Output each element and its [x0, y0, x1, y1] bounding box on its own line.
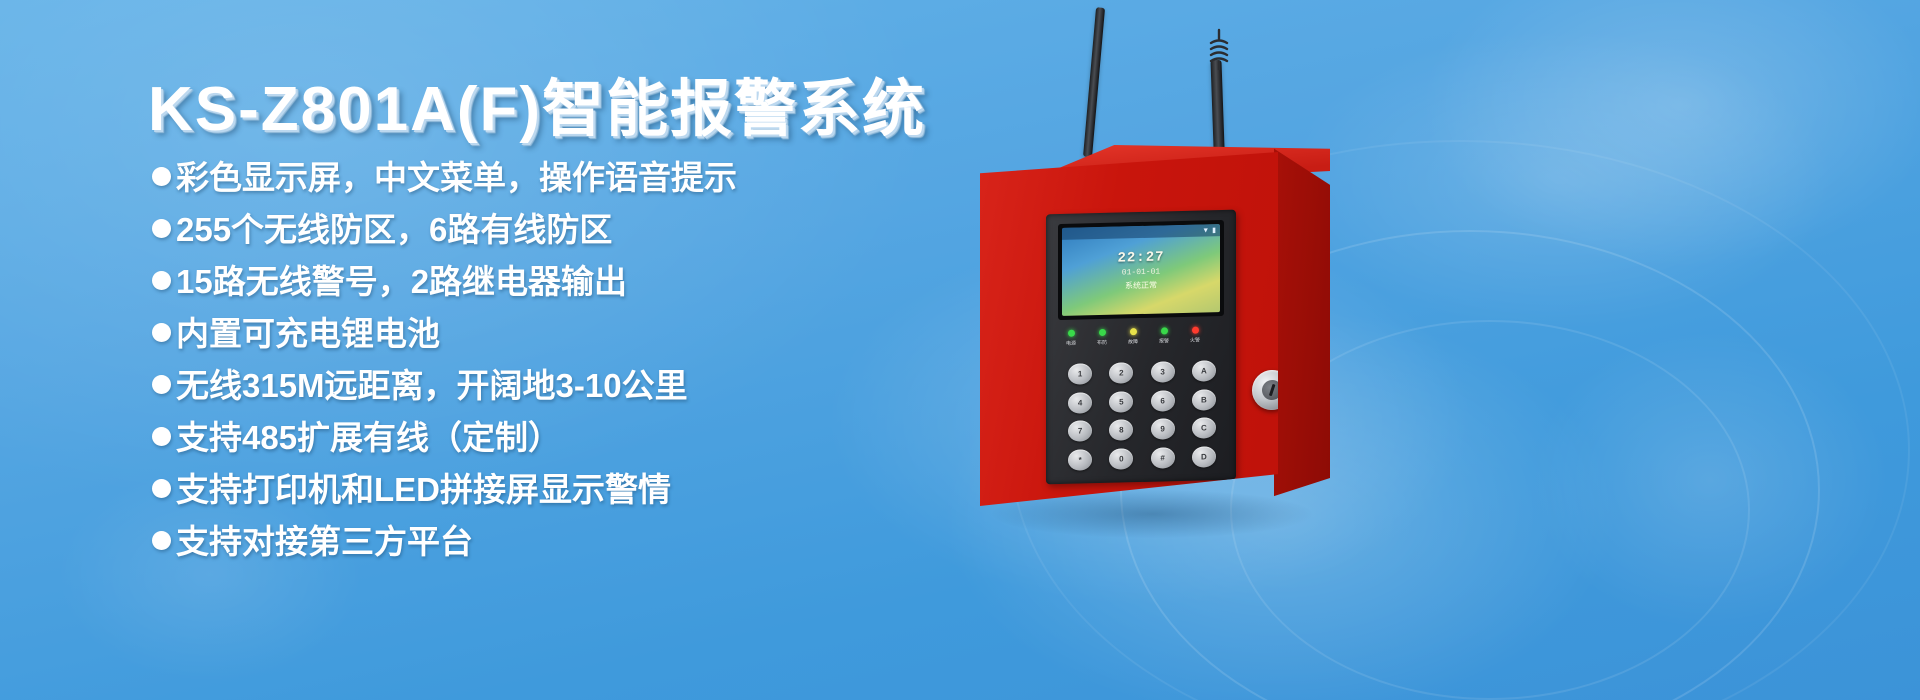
- led-indicator: 布防: [1091, 329, 1113, 347]
- key-button[interactable]: 9: [1151, 418, 1175, 440]
- key-button[interactable]: D: [1192, 446, 1216, 468]
- bullet-icon: [152, 271, 171, 290]
- led-indicator-strip: 电源 布防 故障 报警: [1060, 326, 1224, 356]
- lcd-status-bar: ▼ ▮: [1062, 224, 1220, 240]
- key-button[interactable]: 8: [1109, 419, 1133, 441]
- bullet-icon: [152, 323, 171, 342]
- led-label: 故障: [1128, 338, 1138, 345]
- bullet-icon: [152, 167, 171, 186]
- enclosure-side-face: [1274, 145, 1330, 507]
- lock-keyway: [1269, 384, 1275, 396]
- key-button[interactable]: A: [1192, 360, 1216, 382]
- bullet-icon: [152, 427, 171, 446]
- key-button[interactable]: #: [1151, 447, 1175, 469]
- key-button[interactable]: 2: [1109, 362, 1133, 384]
- led-label: 布防: [1097, 339, 1107, 346]
- key-button[interactable]: 4: [1068, 392, 1092, 414]
- feature-text: 支持485扩展有线（定制）: [176, 416, 561, 459]
- key-button[interactable]: *: [1068, 449, 1092, 471]
- led-dot-icon: [1099, 329, 1106, 336]
- led-dot-icon: [1130, 328, 1137, 335]
- key-button[interactable]: C: [1192, 417, 1216, 439]
- antenna-left-icon: [1083, 7, 1105, 157]
- bullet-icon: [152, 479, 171, 498]
- lcd-clock: 22:27: [1062, 248, 1220, 268]
- key-button[interactable]: 6: [1151, 390, 1175, 412]
- background-glow-c: [1530, 330, 1890, 630]
- feature-text: 支持对接第三方平台: [176, 520, 473, 563]
- list-item: 15路无线警号，2路继电器输出: [152, 260, 932, 305]
- list-item: 内置可充电锂电池: [152, 312, 932, 357]
- feature-text: 支持打印机和LED拼接屏显示警情: [176, 468, 671, 511]
- feature-text: 彩色显示屏，中文菜单，操作语音提示: [176, 156, 737, 199]
- led-indicator: 火警: [1184, 326, 1206, 344]
- led-indicator: 故障: [1122, 328, 1144, 346]
- enclosure-front-face: ▼ ▮ 22:27 01-01-01 系统正常 电源: [980, 152, 1278, 506]
- feature-text: 255个无线防区，6路有线防区: [176, 208, 612, 251]
- led-label: 火警: [1190, 337, 1200, 344]
- bullet-icon: [152, 375, 171, 394]
- control-faceplate: ▼ ▮ 22:27 01-01-01 系统正常 电源: [1046, 210, 1236, 485]
- key-button[interactable]: 5: [1109, 391, 1133, 413]
- bullet-icon: [152, 531, 171, 550]
- key-button[interactable]: 1: [1068, 363, 1092, 385]
- led-dot-icon: [1192, 327, 1199, 334]
- list-item: 彩色显示屏，中文菜单，操作语音提示: [152, 156, 932, 201]
- list-item: 无线315M远距离，开阔地3-10公里: [152, 364, 932, 409]
- key-button[interactable]: B: [1192, 389, 1216, 411]
- lcd-date: 01-01-01: [1062, 266, 1220, 279]
- lcd-status-text: 系统正常: [1062, 278, 1220, 293]
- feature-text: 内置可充电锂电池: [176, 312, 440, 355]
- lcd-bezel: ▼ ▮ 22:27 01-01-01 系统正常: [1058, 220, 1224, 320]
- keypad[interactable]: 1 2 3 A 4 5 6 B 7 8 9 C * 0 # D: [1062, 360, 1222, 474]
- bullet-icon: [152, 219, 171, 238]
- feature-list: 彩色显示屏，中文菜单，操作语音提示 255个无线防区，6路有线防区 15路无线警…: [152, 156, 932, 572]
- led-dot-icon: [1161, 327, 1168, 334]
- list-item: 支持打印机和LED拼接屏显示警情: [152, 468, 932, 513]
- led-indicator: 电源: [1060, 329, 1082, 347]
- antenna-coil-icon: [1206, 28, 1232, 70]
- led-dot-icon: [1068, 330, 1075, 337]
- key-button[interactable]: 7: [1068, 420, 1092, 442]
- key-button[interactable]: 3: [1151, 361, 1175, 383]
- feature-text: 15路无线警号，2路继电器输出: [176, 260, 627, 303]
- list-item: 支持对接第三方平台: [152, 520, 932, 565]
- battery-icon: ▮: [1212, 227, 1216, 234]
- list-item: 255个无线防区，6路有线防区: [152, 208, 932, 253]
- list-item: 支持485扩展有线（定制）: [152, 416, 932, 461]
- alarm-control-panel: ▼ ▮ 22:27 01-01-01 系统正常 电源: [930, 0, 1450, 700]
- feature-text: 无线315M远距离，开阔地3-10公里: [176, 364, 688, 407]
- lcd-screen[interactable]: ▼ ▮ 22:27 01-01-01 系统正常: [1062, 224, 1220, 316]
- led-indicator: 报警: [1153, 327, 1175, 345]
- product-banner: KS-Z801A(F)智能报警系统 彩色显示屏，中文菜单，操作语音提示 255个…: [0, 0, 1920, 700]
- signal-icon: ▼: [1202, 227, 1209, 234]
- page-title: KS-Z801A(F)智能报警系统: [148, 58, 926, 148]
- led-label: 电源: [1066, 340, 1076, 347]
- background-glow-a: [1420, 0, 1920, 270]
- key-button[interactable]: 0: [1109, 448, 1133, 470]
- led-label: 报警: [1159, 337, 1169, 344]
